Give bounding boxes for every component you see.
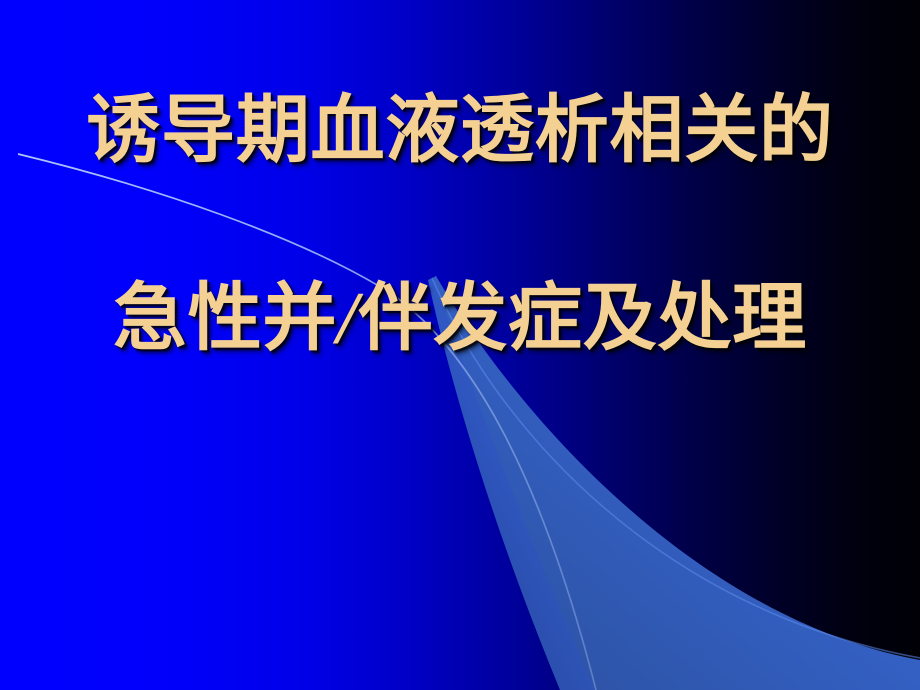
title-line-1: 诱导期血液透析相关的: [0, 84, 920, 176]
title-slash-separator: /: [337, 278, 358, 360]
title-line-2: 急性并/伴发症及处理: [0, 272, 920, 365]
title-line-2-part-b: 伴发症及处理: [359, 275, 807, 361]
slide-canvas: 诱导期血液透析相关的 急性并/伴发症及处理: [0, 0, 920, 690]
title-line-2-part-a: 急性并: [113, 275, 337, 361]
title-block: 诱导期血液透析相关的 急性并/伴发症及处理: [0, 0, 920, 690]
